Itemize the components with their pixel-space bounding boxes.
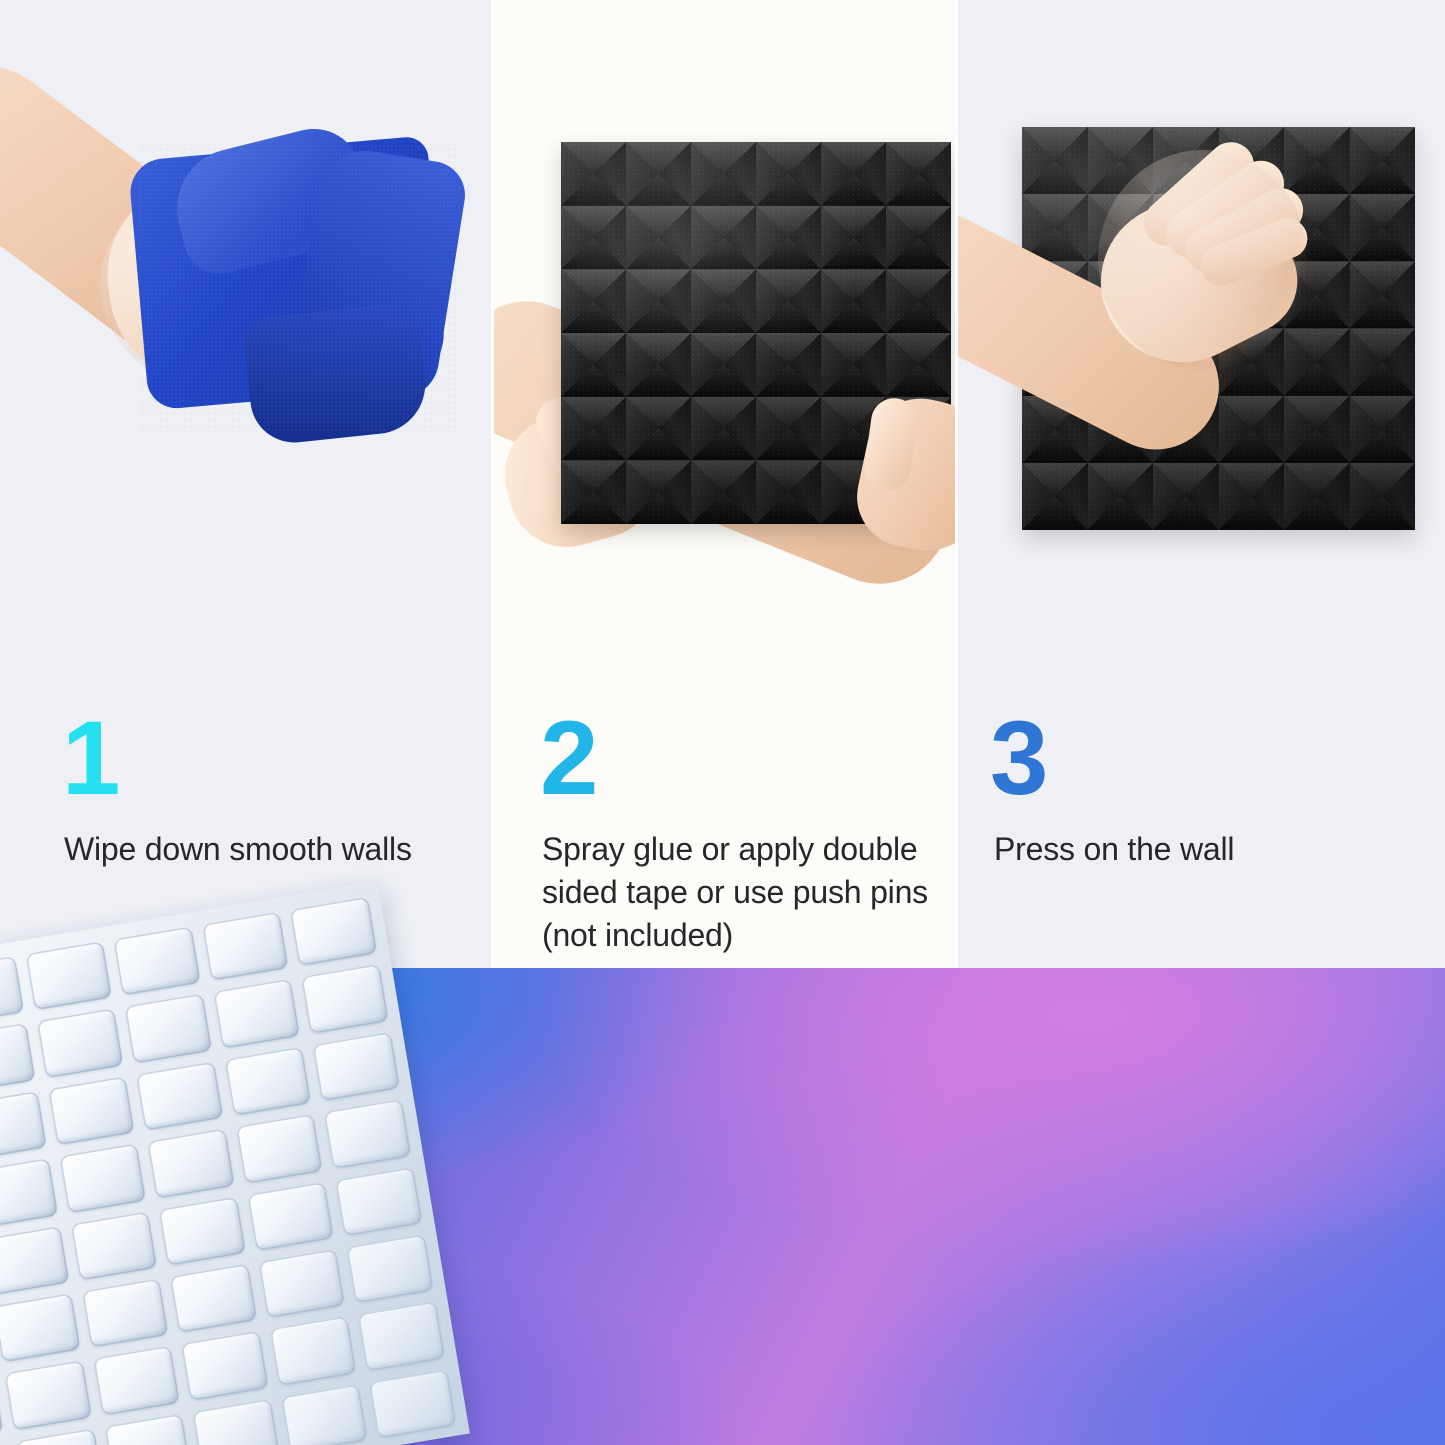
- adhesive-pad-grid: [0, 897, 456, 1445]
- adhesive-pad: [82, 1278, 169, 1348]
- adhesive-pad: [193, 1398, 280, 1445]
- foam-pyramid: [1088, 463, 1154, 530]
- foam-pyramid: [561, 269, 626, 333]
- adhesive-pad: [48, 1076, 135, 1146]
- foam-pyramid: [626, 269, 691, 333]
- foam-pyramid: [626, 397, 691, 461]
- adhesive-pad: [0, 956, 24, 1026]
- foam-pyramid: [886, 333, 951, 397]
- panel-divider-2: [955, 0, 958, 968]
- foam-pyramid: [691, 142, 756, 206]
- adhesive-pad: [213, 979, 300, 1049]
- adhesive-pad: [258, 1249, 345, 1319]
- step-number-1: 1: [62, 706, 118, 811]
- foam-pyramid: [756, 333, 821, 397]
- foam-pyramid: [691, 397, 756, 461]
- foam-pyramid: [561, 142, 626, 206]
- product-infographic: 1 Wipe down smooth walls: [0, 0, 1445, 1445]
- step-caption-2: Spray glue or apply double sided tape or…: [542, 828, 958, 957]
- adhesive-pad: [369, 1369, 456, 1439]
- adhesive-pad: [281, 1384, 368, 1445]
- foam-pyramid: [1219, 396, 1285, 463]
- adhesive-pad: [347, 1234, 434, 1304]
- adhesive-pad: [225, 1046, 312, 1116]
- foam-pyramid: [561, 206, 626, 270]
- adhesive-pad: [336, 1167, 423, 1237]
- adhesive-pad: [136, 1061, 223, 1131]
- adhesive-pad: [236, 1114, 323, 1184]
- adhesive-pad: [125, 994, 212, 1064]
- adhesive-pad: [0, 1293, 80, 1363]
- foam-pyramid: [1350, 261, 1416, 328]
- adhesive-pad: [324, 1099, 411, 1169]
- foam-pyramid: [691, 460, 756, 524]
- adhesive-pad: [302, 964, 389, 1034]
- adhesive-pad: [247, 1181, 334, 1251]
- adhesive-pad: [59, 1143, 146, 1213]
- adhesive-pad: [270, 1316, 357, 1386]
- step-caption-1: Wipe down smooth walls: [64, 828, 464, 871]
- foam-pyramid: [561, 333, 626, 397]
- foam-pyramid: [821, 206, 886, 270]
- foam-pyramid: [756, 269, 821, 333]
- adhesive-pad: [25, 941, 112, 1011]
- adhesive-pad: [114, 926, 201, 996]
- foam-pyramid: [691, 333, 756, 397]
- foam-pyramid: [821, 333, 886, 397]
- foam-pyramid: [821, 269, 886, 333]
- foam-pyramid: [1284, 396, 1350, 463]
- foam-pyramid: [691, 206, 756, 270]
- foam-pyramid: [886, 269, 951, 333]
- foam-pyramid: [756, 206, 821, 270]
- adhesive-pad: [93, 1346, 180, 1416]
- foam-pyramid: [1284, 328, 1350, 395]
- adhesive-pad: [358, 1301, 445, 1371]
- foam-pyramid: [626, 460, 691, 524]
- foam-pyramid: [1350, 328, 1416, 395]
- step-panel-3: 3 Press on the wall: [958, 0, 1445, 968]
- adhesive-pad: [170, 1264, 257, 1334]
- foam-pyramid: [561, 397, 626, 461]
- foam-pyramid: [1284, 127, 1350, 194]
- foam-pyramid: [626, 206, 691, 270]
- foam-pyramid: [1022, 127, 1088, 194]
- adhesive-pad: [0, 1375, 3, 1445]
- foam-pyramid: [756, 460, 821, 524]
- panel-divider-1: [491, 0, 494, 968]
- foam-pyramid: [561, 460, 626, 524]
- adhesive-pad: [0, 1226, 69, 1296]
- adhesive-pad: [0, 1023, 35, 1093]
- adhesive-pad: [202, 912, 289, 982]
- adhesive-pad: [290, 897, 377, 967]
- adhesive-pad: [37, 1009, 124, 1079]
- adhesive-pad: [104, 1413, 191, 1445]
- cloth-drape-bottom: [242, 301, 430, 447]
- foam-pyramid: [756, 142, 821, 206]
- adhesive-pad: [181, 1331, 268, 1401]
- step-caption-3: Press on the wall: [994, 828, 1414, 871]
- adhesive-pad: [159, 1196, 246, 1266]
- foam-pyramid: [1350, 194, 1416, 261]
- foam-pyramid: [756, 397, 821, 461]
- foam-pyramid: [821, 142, 886, 206]
- installation-steps-section: 1 Wipe down smooth walls: [0, 0, 1445, 968]
- microfiber-cloth: [130, 140, 460, 440]
- foam-pyramid: [626, 333, 691, 397]
- foam-pyramid: [1022, 194, 1088, 261]
- foam-pyramid: [886, 142, 951, 206]
- foam-pyramid: [1219, 463, 1285, 530]
- foam-pyramid: [886, 206, 951, 270]
- foam-pyramid: [1088, 127, 1154, 194]
- adhesive-pad: [148, 1129, 235, 1199]
- adhesive-pad: [0, 1158, 58, 1228]
- foam-pyramid: [1284, 463, 1350, 530]
- foam-pyramid: [1350, 396, 1416, 463]
- foam-pyramid: [1350, 463, 1416, 530]
- foam-pyramid: [1350, 127, 1416, 194]
- foam-pyramid: [626, 142, 691, 206]
- adhesive-pad: [16, 1428, 103, 1445]
- step-number-2: 2: [540, 706, 596, 811]
- foam-pyramid: [1153, 463, 1219, 530]
- adhesive-pad: [0, 1091, 47, 1161]
- adhesive-pad: [313, 1032, 400, 1102]
- foam-pyramid: [691, 269, 756, 333]
- adhesive-pad: [5, 1361, 92, 1431]
- step-panel-1: 1 Wipe down smooth walls: [0, 0, 494, 968]
- adhesive-pad: [70, 1211, 157, 1281]
- step-number-3: 3: [990, 706, 1046, 811]
- step-panel-2: 2 Spray glue or apply double sided tape …: [494, 0, 958, 968]
- foam-pyramid: [1022, 463, 1088, 530]
